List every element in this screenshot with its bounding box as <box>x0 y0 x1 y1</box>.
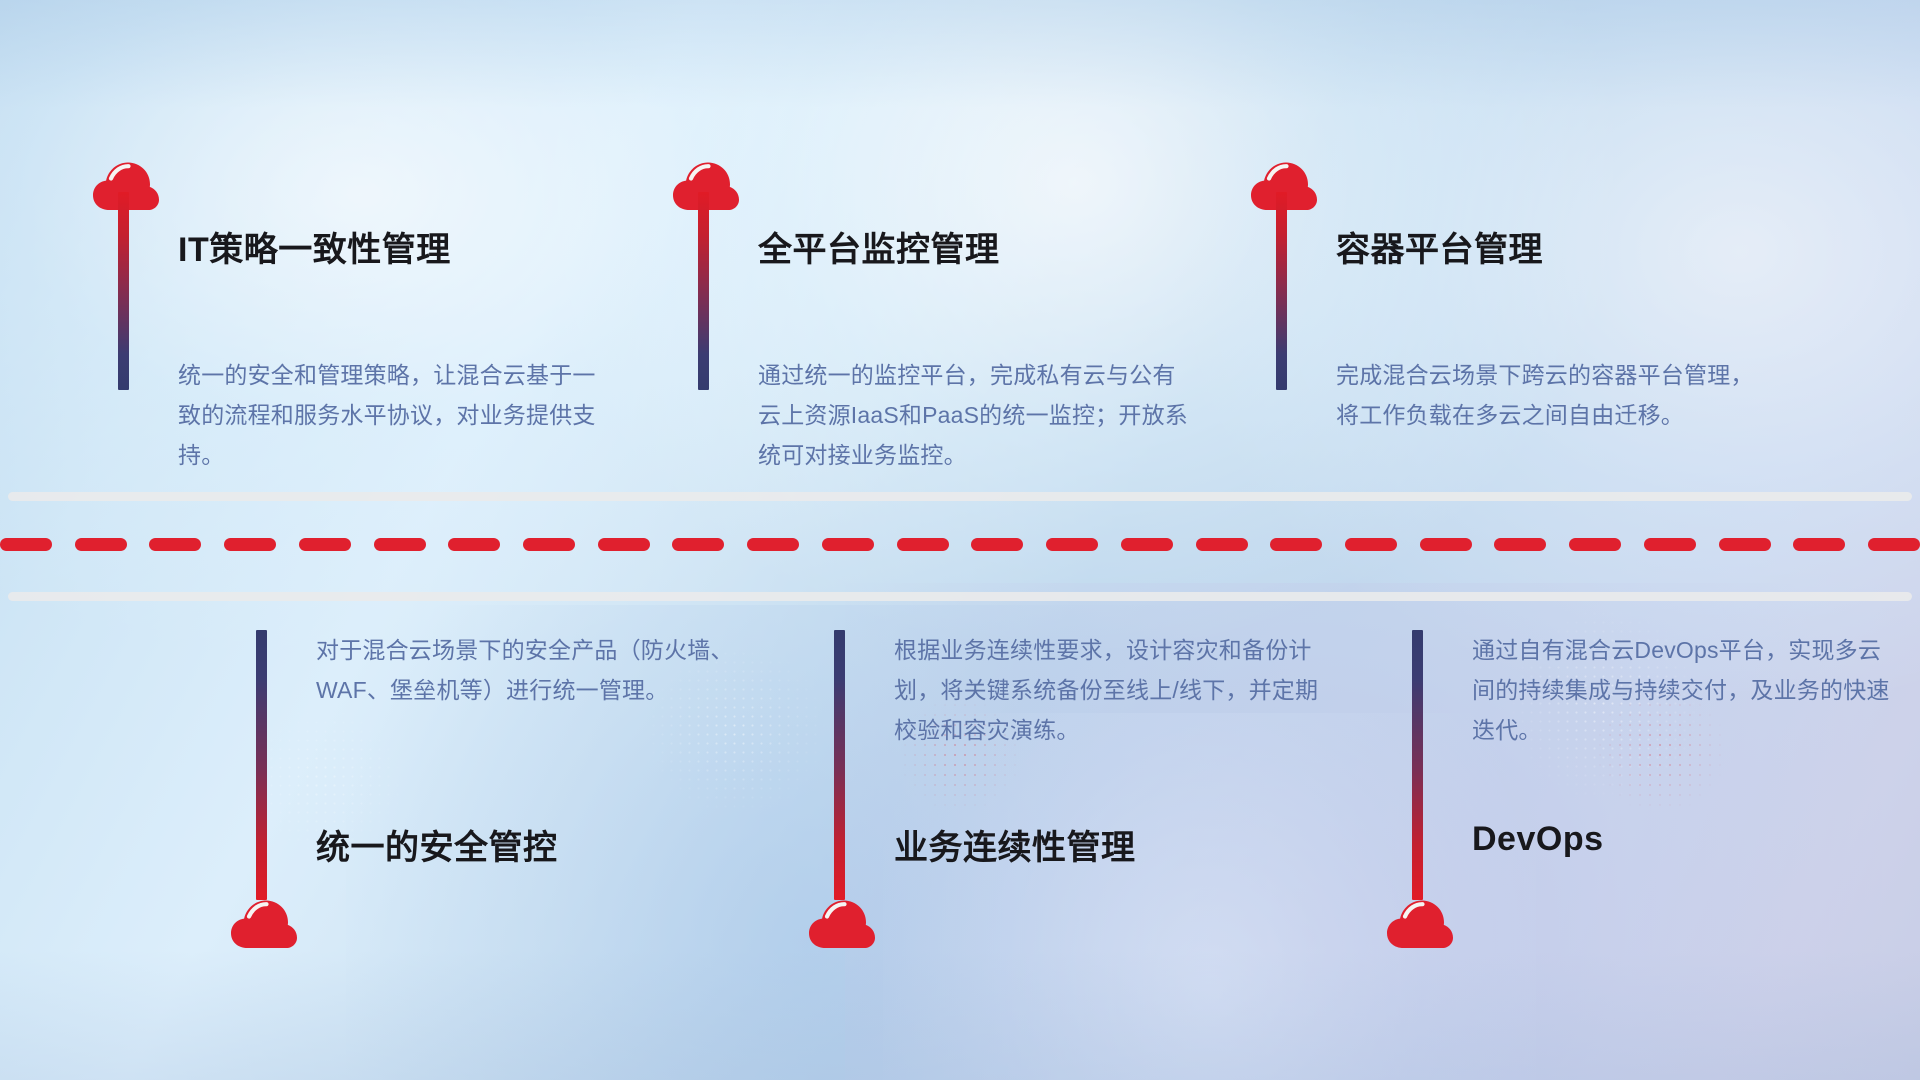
cloud-icon <box>808 898 876 950</box>
divider <box>0 492 1920 602</box>
connector-stem <box>698 192 709 390</box>
bottom-column-2-title: 业务连续性管理 <box>894 820 1136 869</box>
divider-rule-top <box>8 492 1912 501</box>
dash-segment <box>1719 538 1771 551</box>
connector-stem <box>256 630 267 900</box>
bottom-column-3-title: DevOps <box>1472 820 1604 859</box>
infographic-canvas: IT策略一致性管理 统一的安全和管理策略，让混合云基于一致的流程和服务水平协议，… <box>0 0 1920 1080</box>
connector-stem <box>118 192 129 390</box>
dash-segment <box>672 538 724 551</box>
dash-segment <box>1793 538 1845 551</box>
dash-segment <box>224 538 276 551</box>
dash-segment <box>299 538 351 551</box>
connector-stem <box>1276 192 1287 390</box>
dash-segment <box>598 538 650 551</box>
dash-segment <box>897 538 949 551</box>
top-column-2-title: 全平台监控管理 <box>758 222 1000 271</box>
connector-stem <box>1412 630 1423 900</box>
dash-segment <box>747 538 799 551</box>
cloud-icon <box>1386 898 1454 950</box>
dash-segment <box>0 538 52 551</box>
dash-segment <box>1494 538 1546 551</box>
dash-segment <box>523 538 575 551</box>
dash-segment <box>1644 538 1696 551</box>
dash-segment <box>1569 538 1621 551</box>
top-column-1-title: IT策略一致性管理 <box>178 222 451 271</box>
cloud-icon <box>230 898 298 950</box>
bottom-column-2-description: 根据业务连续性要求，设计容灾和备份计划，将关键系统备份至线上/线下，并定期校验和… <box>894 630 1324 750</box>
dash-segment <box>75 538 127 551</box>
dash-segment <box>1046 538 1098 551</box>
dash-segment <box>1270 538 1322 551</box>
dash-segment <box>374 538 426 551</box>
divider-rule-bottom <box>8 592 1912 601</box>
dash-segment <box>1868 538 1920 551</box>
top-column-2-description: 通过统一的监控平台，完成私有云与公有云上资源IaaS和PaaS的统一监控；开放系… <box>758 355 1188 475</box>
dash-segment <box>149 538 201 551</box>
top-column-3-description: 完成混合云场景下跨云的容器平台管理，将工作负载在多云之间自由迁移。 <box>1336 355 1766 435</box>
dash-segment <box>448 538 500 551</box>
red-dashed-separator <box>0 538 1920 551</box>
dash-segment <box>1420 538 1472 551</box>
dash-segment <box>822 538 874 551</box>
dash-segment <box>1345 538 1397 551</box>
top-column-1-description: 统一的安全和管理策略，让混合云基于一致的流程和服务水平协议，对业务提供支持。 <box>178 355 608 475</box>
bottom-column-1-description: 对于混合云场景下的安全产品（防火墙、WAF、堡垒机等）进行统一管理。 <box>316 630 746 710</box>
connector-stem <box>834 630 845 900</box>
bottom-column-3-description: 通过自有混合云DevOps平台，实现多云间的持续集成与持续交付，及业务的快速迭代… <box>1472 630 1902 750</box>
dash-segment <box>1121 538 1173 551</box>
top-column-3-title: 容器平台管理 <box>1336 222 1543 271</box>
dash-segment <box>1196 538 1248 551</box>
bottom-column-1-title: 统一的安全管控 <box>316 820 558 869</box>
dash-segment <box>971 538 1023 551</box>
